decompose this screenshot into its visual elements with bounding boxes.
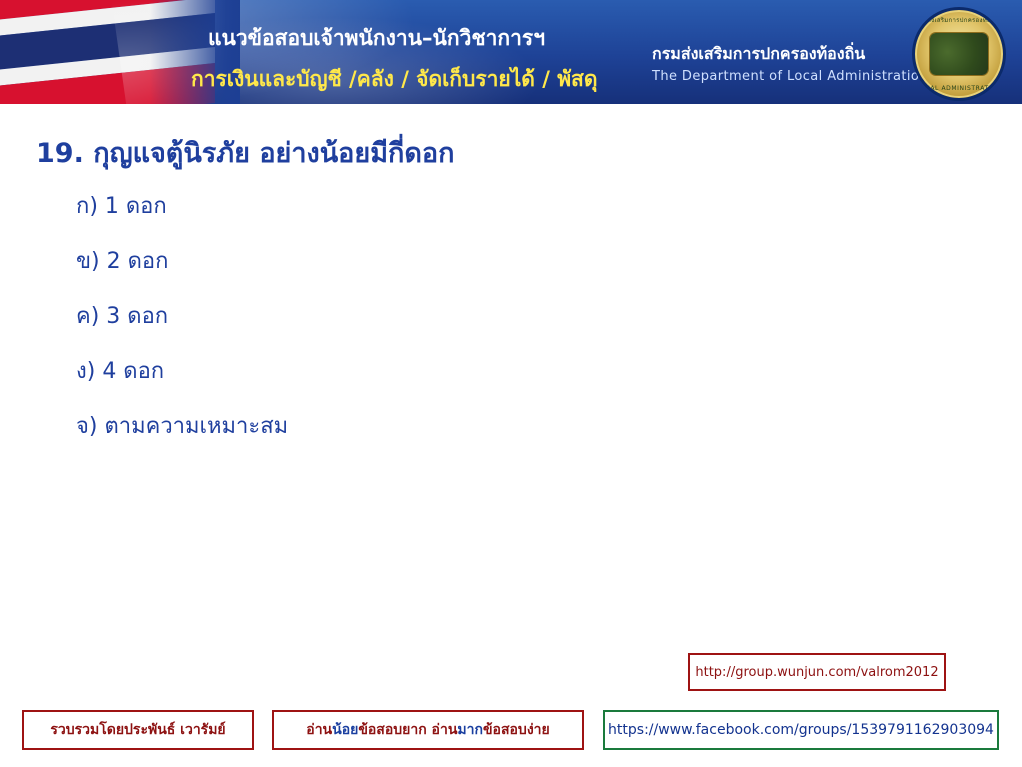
slogan-box: อ่านน้อยข้อสอบยาก อ่านมากข้อสอบง่าย: [272, 710, 584, 750]
slogan-part-5: อ่าน: [427, 722, 458, 738]
facebook-url-text: https://www.facebook.com/groups/15397911…: [608, 722, 994, 738]
slogan-part-7: ข้อสอบ: [483, 722, 527, 738]
banner-department-thai: กรมส่งเสริมการปกครองท้องถิ่น: [652, 42, 865, 67]
facebook-url-box[interactable]: https://www.facebook.com/groups/15397911…: [603, 710, 999, 750]
slogan-text: อ่านน้อยข้อสอบยาก อ่านมากข้อสอบง่าย: [306, 719, 549, 741]
credit-box: รวบรวมโดยประพันธ์ เวารัมย์: [22, 710, 254, 750]
banner-title-line1: แนวข้อสอบเจ้าพนักงาน–นักวิชาการฯ: [208, 22, 545, 55]
seal-emblem-icon: [930, 33, 988, 75]
banner-department-english: The Department of Local Administration: [652, 69, 928, 84]
slogan-part-8: ง่าย: [527, 722, 550, 738]
choice-list: ก) 1 ดอก ข) 2 ดอก ค) 3 ดอก ง) 4 ดอก จ) ต…: [76, 192, 776, 467]
slogan-part-1: อ่าน: [306, 722, 332, 738]
credit-text: รวบรวมโดยประพันธ์ เวารัมย์: [50, 719, 225, 741]
question-text: 19. กุญแจตู้นิรภัย อย่างน้อยมีกี่ดอก: [36, 131, 454, 174]
slogan-part-2: น้อย: [332, 722, 358, 738]
slogan-part-3: ข้อสอบ: [358, 722, 402, 738]
header-banner: แนวข้อสอบเจ้าพนักงาน–นักวิชาการฯ การเงิน…: [0, 0, 1022, 104]
banner-title-line2: การเงินและบัญชี /คลัง / จัดเก็บรายได้ / …: [191, 63, 598, 96]
choice-item-b: ข) 2 ดอก: [76, 247, 776, 302]
choice-item-d: ง) 4 ดอก: [76, 357, 776, 412]
group-url-box[interactable]: http://group.wunjun.com/valrom2012: [688, 653, 946, 691]
slogan-part-4: ยาก: [402, 722, 427, 738]
choice-item-e: จ) ตามความเหมาะสม: [76, 412, 776, 467]
choice-item-a: ก) 1 ดอก: [76, 192, 776, 247]
department-seal-logo: กรมส่งเสริมการปกครองท้องถิ่น LOCAL ADMIN…: [912, 7, 1006, 101]
slogan-part-6: มาก: [457, 722, 483, 738]
choice-item-c: ค) 3 ดอก: [76, 302, 776, 357]
seal-bottom-text: LOCAL ADMINISTRATION: [915, 85, 1003, 92]
group-url-text: http://group.wunjun.com/valrom2012: [695, 665, 938, 680]
seal-top-text: กรมส่งเสริมการปกครองท้องถิ่น: [915, 15, 1003, 25]
